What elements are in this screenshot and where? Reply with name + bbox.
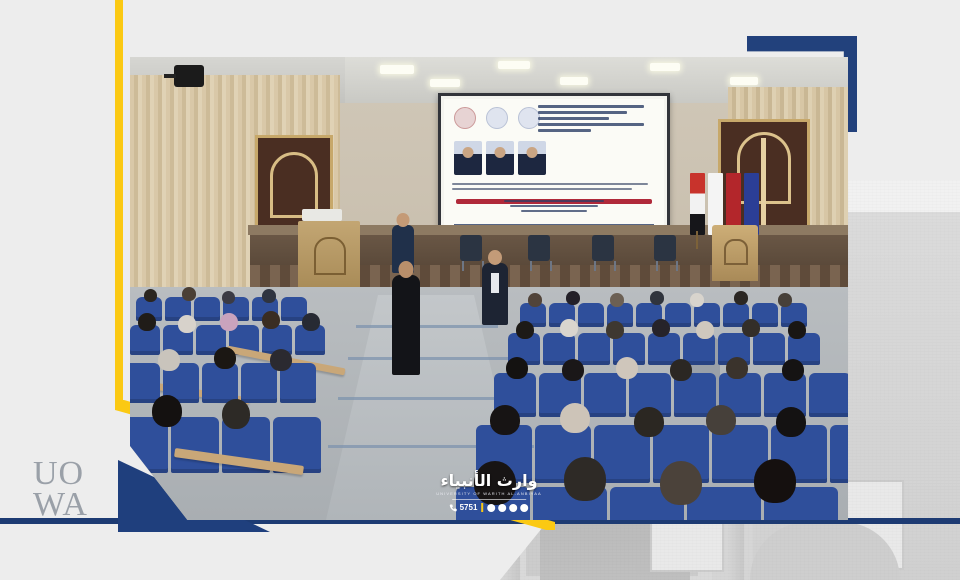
seat [194,297,220,321]
audience-head [144,289,157,302]
audience-head [782,359,804,381]
watermark-phone-number: 5751 [460,503,478,512]
slide-footer-line [504,200,604,202]
stage-chair [528,235,550,261]
audience-head [506,357,528,379]
audience-head [214,347,236,369]
presentation-slide [444,99,664,231]
ceiling-light [380,65,414,74]
audience-head [742,319,760,337]
audience-head [776,407,806,437]
slide-logo-icon [454,107,476,129]
slide-portrait [518,141,546,175]
slide-header-line [538,117,609,120]
audience-head [516,321,534,339]
wall-speaker-icon [174,65,204,87]
audience-head [566,291,580,305]
slide-portrait-row [454,141,546,175]
slide-header-line [538,129,591,132]
audience-head-hijab [690,293,704,307]
uowa-logo-line-1: UO [33,458,88,489]
projection-screen [438,93,670,237]
ceiling-light [560,77,588,85]
ceiling-light [650,63,680,71]
slide-logo-icon [486,107,508,129]
slide-footer-line [510,205,598,207]
stage-chair [592,235,614,261]
slide-header-line [538,111,627,114]
audience-head [222,399,250,429]
seat [809,373,848,417]
seat-row [508,333,823,365]
seat [830,425,848,483]
watermark-university-name: UNIVERSITY OF WARITH AL-ANBIYAA [436,491,542,496]
facebook-icon [487,504,495,512]
aisle-step [356,325,498,328]
lectern [298,221,360,295]
seat [578,303,604,327]
watermark-phone: 5751 [450,503,478,512]
audience-head [660,461,702,505]
slide-footer-line [521,210,586,212]
slide-header-line [538,123,644,126]
audience-head [490,405,520,435]
flag-group [690,157,776,235]
watermark-arabic-logo: وارث الأنبياء [436,473,542,489]
slide-footer-lines [458,200,650,215]
podium [712,225,758,281]
audience-head [182,287,196,301]
ceiling-light [730,77,758,85]
audience-head [562,359,584,381]
audience-head [270,349,292,371]
aisle-step [348,357,508,360]
slide-body-line [452,183,648,185]
audience-head [652,319,670,337]
twitter-icon [509,504,517,512]
instagram-icon [498,504,506,512]
photo-watermark: وارث الأنبياء UNIVERSITY OF WARITH AL-AN… [436,473,542,512]
audience-head-hijab [696,321,714,339]
event-photograph: وارث الأنبياء UNIVERSITY OF WARITH AL-AN… [130,57,848,520]
slide-header-lines [538,105,656,135]
slide-portrait [454,141,482,175]
uowa-logo-line-2: WA [33,489,88,520]
lectern-laptop [302,209,342,221]
stage-chair [654,235,676,261]
audience-head [726,357,748,379]
seat [578,333,610,365]
audience-head [262,289,276,303]
speaker-with-microphone [482,263,508,325]
flag-iraq [690,173,705,235]
audience-head [670,359,692,381]
poster-canvas: وارث الأنبياء UNIVERSITY OF WARITH AL-AN… [0,0,960,580]
audience-head [788,321,806,339]
audience-head [610,293,624,307]
audience-head [302,313,320,331]
audience-head-hijab [158,349,180,371]
audience-head [734,291,748,305]
seat [584,373,626,417]
watermark-social-icons [487,504,528,512]
watermark-separator [481,503,483,512]
slide-body-lines [452,183,656,193]
audience-head [528,293,542,307]
audience-head-hijab [178,315,196,333]
slide-logo-icon [518,107,540,129]
audience-head [606,321,624,339]
slide-logo-row [454,107,540,129]
audience-head [754,459,796,503]
audience-head [778,293,792,307]
uowa-corner-logo: UO WA [33,458,88,521]
slide-portrait [486,141,514,175]
audience-head-hijab [560,319,578,337]
audience-head [634,407,664,437]
slide-body-line [452,188,632,190]
watermark-contact-bar: 5751 [436,503,542,512]
audience-head [152,395,182,427]
audience-head-hijab [560,403,590,433]
seat [753,333,785,365]
slide-header-line [538,105,644,108]
aisle-step [338,397,520,400]
ceiling-light [498,61,530,69]
ceiling-light [430,79,460,87]
seat [130,363,160,403]
audience-head [138,313,156,331]
audience-head-hijab [220,313,238,331]
yellow-vertical-stripe [115,0,123,405]
seat [241,363,277,403]
audience-head [262,311,280,329]
seat [171,417,219,473]
audience-head [222,291,235,304]
audience-head [706,405,736,435]
person-in-black-standing [392,275,420,375]
phone-icon [450,504,458,512]
seat [202,363,238,403]
audience-head-hijab [616,357,638,379]
stage-chair [460,235,482,261]
audience-head [650,291,664,305]
youtube-icon [520,504,528,512]
audience-head [564,457,606,501]
watermark-divider [452,499,526,500]
